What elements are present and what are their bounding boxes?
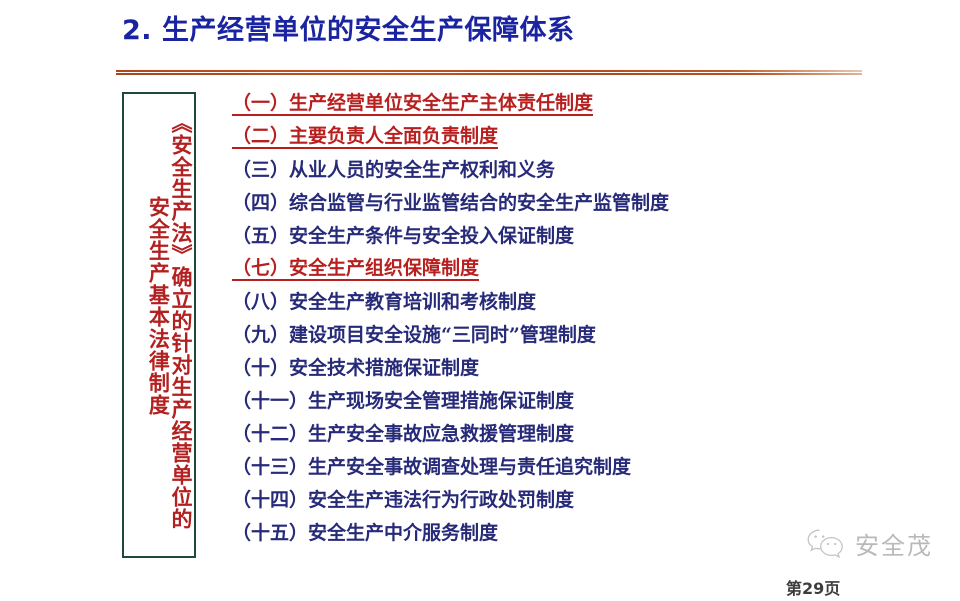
list-item: （二）主要负责人全面负责制度 [232, 121, 892, 154]
list-item-label: （一）生产经营单位安全生产主体责任制度 [232, 94, 593, 116]
list-item-label: （七）安全生产组织保障制度 [232, 259, 479, 281]
list-item: （十二）生产安全事故应急救援管理制度 [232, 418, 892, 451]
brand-name: 安全茂 [855, 526, 933, 561]
page-title: 2. 生产经营单位的安全生产保障体系 [122, 14, 574, 48]
wechat-icon [805, 526, 847, 560]
list-item: （八）安全生产教育培训和考核制度 [232, 286, 892, 319]
vertical-label-columns: 《安全生产法》确立的针对生产经营单位的 安全生产基本法律制度 [124, 94, 194, 556]
list-item-label: （十）安全技术措施保证制度 [232, 359, 479, 378]
page-number: 第29页 [786, 575, 840, 599]
list-item: （一）生产经营单位安全生产主体责任制度 [232, 88, 892, 121]
list-item: （三）从业人员的安全生产权利和义务 [232, 154, 892, 187]
list-item-label: （十三）生产安全事故调查处理与责任追究制度 [232, 458, 631, 477]
list-item-label: （三）从业人员的安全生产权利和义务 [232, 161, 555, 180]
list-item: （九）建设项目安全设施“三同时”管理制度 [232, 319, 892, 352]
list-item-label: （九）建设项目安全设施“三同时”管理制度 [232, 326, 596, 345]
list-item-label: （十二）生产安全事故应急救援管理制度 [232, 425, 574, 444]
institution-list: （一）生产经营单位安全生产主体责任制度 （二）主要负责人全面负责制度 （三）从业… [232, 88, 892, 550]
list-item: （五）安全生产条件与安全投入保证制度 [232, 220, 892, 253]
list-item-label: （十四）安全生产违法行为行政处罚制度 [232, 491, 574, 510]
list-item: （十四）安全生产违法行为行政处罚制度 [232, 484, 892, 517]
list-item: （十）安全技术措施保证制度 [232, 352, 892, 385]
slide-canvas: 2. 生产经营单位的安全生产保障体系 《安全生产法》确立的针对生产经营单位的 安… [0, 0, 960, 601]
list-item-label: （四）综合监管与行业监管结合的安全生产监管制度 [232, 194, 669, 213]
list-item: （四）综合监管与行业监管结合的安全生产监管制度 [232, 187, 892, 220]
list-item-label: （二）主要负责人全面负责制度 [232, 127, 498, 149]
brand-watermark: 安全茂 [805, 521, 955, 565]
vertical-label-box: 《安全生产法》确立的针对生产经营单位的 安全生产基本法律制度 [122, 92, 196, 558]
title-divider [116, 70, 862, 75]
vertical-text-line-1: 《安全生产法》确立的针对生产经营单位的 [169, 112, 192, 530]
list-item: （十一）生产现场安全管理措施保证制度 [232, 385, 892, 418]
list-item: （七）安全生产组织保障制度 [232, 253, 892, 286]
vertical-text-line-2: 安全生产基本法律制度 [147, 196, 170, 416]
list-item-label: （十一）生产现场安全管理措施保证制度 [232, 392, 574, 411]
list-item: （十五）安全生产中介服务制度 [232, 517, 892, 550]
list-item-label: （五）安全生产条件与安全投入保证制度 [232, 227, 574, 246]
list-item-label: （十五）安全生产中介服务制度 [232, 524, 498, 543]
divider-bar-bottom [116, 73, 862, 75]
list-item-label: （八）安全生产教育培训和考核制度 [232, 293, 536, 312]
list-item: （十三）生产安全事故调查处理与责任追究制度 [232, 451, 892, 484]
